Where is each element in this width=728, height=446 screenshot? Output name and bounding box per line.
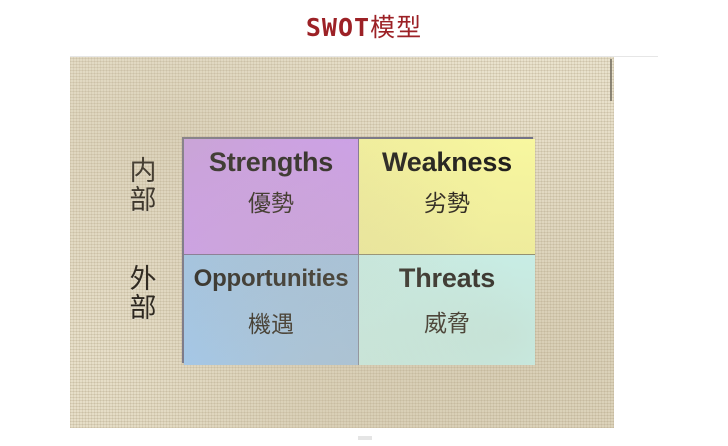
page-title-latin: SWOT bbox=[306, 13, 370, 42]
row-label-external: 外 部 bbox=[123, 265, 163, 323]
swot-quadrant-threats: Threats 威脅 bbox=[359, 255, 535, 365]
quadrant-title-weakness: Weakness bbox=[382, 147, 512, 177]
swot-quadrant-weakness: Weakness 劣勢 bbox=[359, 139, 535, 255]
canvas-edge-mark bbox=[610, 59, 612, 101]
swot-diagram-canvas: 有利的 有害的 内 部 外 部 Strengths 優勢 Weakness 劣勢… bbox=[70, 57, 614, 428]
row-label-internal-char1: 内 bbox=[123, 157, 163, 186]
cropped-bottom-artifact bbox=[358, 436, 372, 440]
swot-quadrant-strengths: Strengths 優勢 bbox=[184, 139, 359, 255]
quadrant-title-threats: Threats bbox=[399, 263, 495, 293]
quadrant-subtitle-threats: 威脅 bbox=[424, 311, 470, 337]
quadrant-subtitle-strengths: 優勢 bbox=[248, 191, 294, 217]
row-label-external-char2: 部 bbox=[123, 294, 163, 323]
swot-quadrant-opportunities: Opportunities 機遇 bbox=[184, 255, 359, 365]
page-title: SWOT模型 bbox=[0, 12, 728, 44]
row-label-external-char1: 外 bbox=[123, 265, 163, 294]
row-label-internal-char2: 部 bbox=[123, 186, 163, 215]
swot-matrix: Strengths 優勢 Weakness 劣勢 Opportunities 機… bbox=[182, 137, 533, 363]
quadrant-subtitle-weakness: 劣勢 bbox=[424, 191, 470, 217]
quadrant-subtitle-opportunities: 機遇 bbox=[248, 312, 294, 338]
quadrant-title-strengths: Strengths bbox=[209, 147, 333, 177]
row-label-internal: 内 部 bbox=[123, 157, 163, 215]
quadrant-title-opportunities: Opportunities bbox=[194, 264, 349, 294]
page-title-cjk: 模型 bbox=[370, 13, 422, 42]
